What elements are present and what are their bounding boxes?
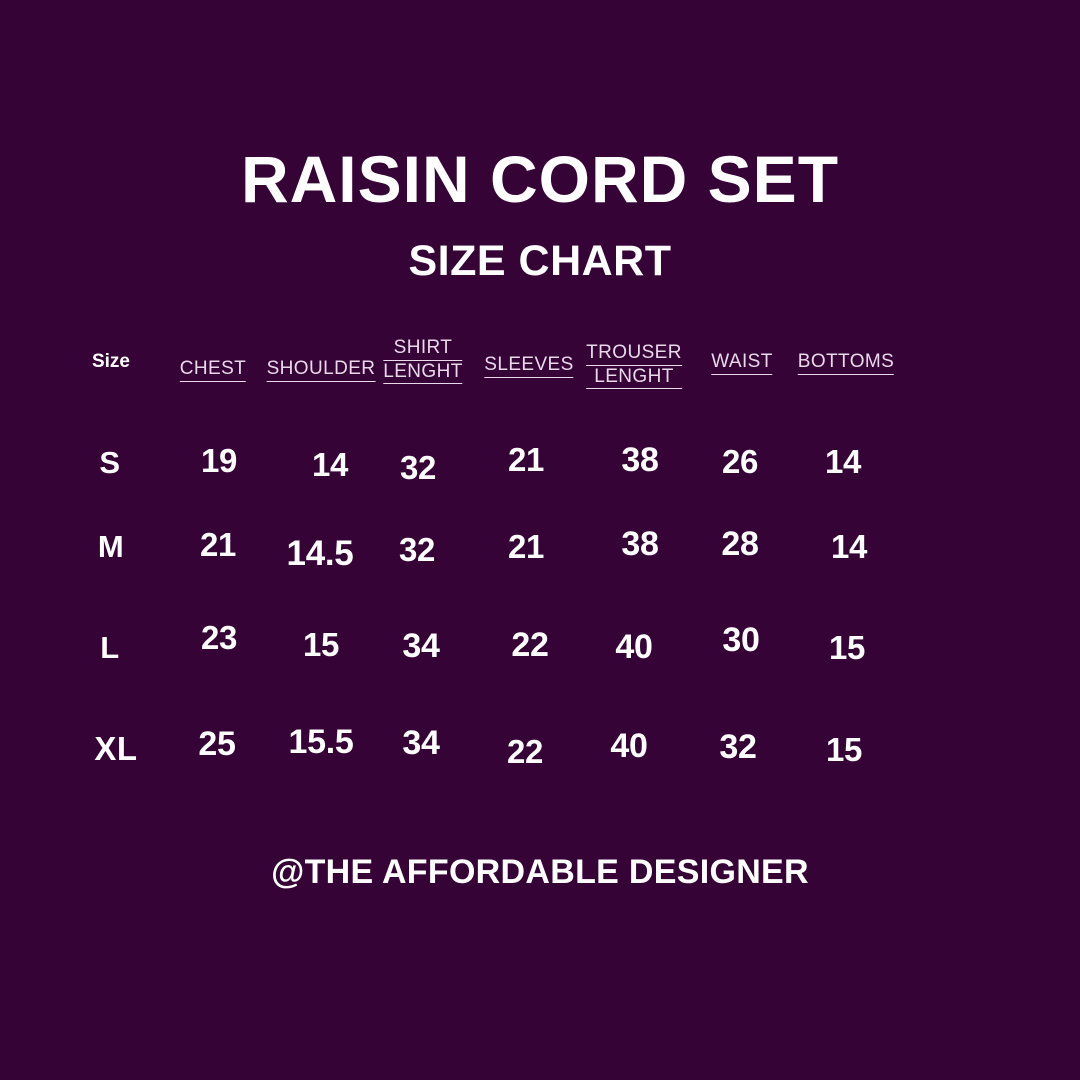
column-header-chest: CHEST — [180, 358, 246, 382]
size-label: S — [99, 447, 120, 478]
measurement-value: 22 — [507, 735, 543, 768]
measurement-value: 28 — [721, 527, 758, 561]
column-header-line: SHIRT — [383, 337, 462, 361]
measurement-value: 40 — [615, 630, 652, 664]
measurement-value: 34 — [402, 726, 439, 760]
size-label: M — [98, 531, 124, 562]
measurement-value: 25 — [198, 727, 235, 761]
measurement-value: 40 — [610, 729, 647, 763]
measurement-value: 14 — [312, 448, 348, 481]
size-label: XL — [94, 732, 137, 765]
measurement-value: 22 — [511, 628, 548, 662]
measurement-value: 15 — [829, 631, 865, 664]
column-header-line: SLEEVES — [484, 354, 573, 378]
measurement-value: 14 — [825, 445, 861, 478]
measurement-value: 38 — [621, 527, 658, 561]
column-header-line: Size — [92, 351, 130, 372]
measurement-value: 32 — [719, 730, 756, 764]
column-header-line: LENGHT — [586, 366, 682, 390]
column-header-trouser-lenght: TROUSERLENGHT — [586, 342, 682, 389]
measurement-value: 34 — [402, 629, 439, 663]
measurement-value: 21 — [200, 528, 236, 561]
column-header-line: WAIST — [711, 351, 772, 375]
column-header-size: Size — [92, 351, 130, 373]
brand-handle: @THE AFFORDABLE DESIGNER — [0, 855, 1080, 889]
measurement-value: 32 — [399, 533, 435, 566]
measurement-value: 15.5 — [289, 725, 354, 759]
column-header-waist: WAIST — [711, 351, 772, 375]
measurement-value: 21 — [508, 530, 544, 563]
column-header-line: BOTTOMS — [798, 351, 894, 375]
measurement-value: 38 — [621, 443, 658, 477]
measurement-value: 30 — [722, 623, 759, 657]
measurement-value: 14.5 — [287, 536, 354, 571]
column-header-line: LENGHT — [383, 361, 462, 385]
measurement-value: 15 — [826, 733, 862, 766]
column-header-shirt-lenght: SHIRTLENGHT — [383, 337, 462, 384]
measurement-value: 19 — [201, 444, 237, 477]
column-header-line: TROUSER — [586, 342, 682, 366]
measurement-value: 23 — [201, 621, 237, 654]
size-chart-poster: RAISIN CORD SET SIZE CHART SizeCHESTSHOU… — [0, 0, 1080, 1080]
measurement-value: 32 — [400, 451, 436, 484]
size-label: L — [100, 632, 119, 663]
measurement-value: 15 — [303, 628, 339, 661]
column-header-bottoms: BOTTOMS — [798, 351, 894, 375]
column-header-line: CHEST — [180, 358, 246, 382]
column-header-sleeves: SLEEVES — [484, 354, 573, 378]
column-header-line: SHOULDER — [267, 358, 376, 382]
measurement-value: 26 — [722, 445, 758, 478]
column-header-shoulder: SHOULDER — [267, 358, 376, 382]
measurement-value: 14 — [831, 530, 867, 563]
measurement-value: 21 — [508, 443, 544, 476]
size-chart-table: SizeCHESTSHOULDERSHIRTLENGHTSLEEVESTROUS… — [0, 0, 1080, 1080]
